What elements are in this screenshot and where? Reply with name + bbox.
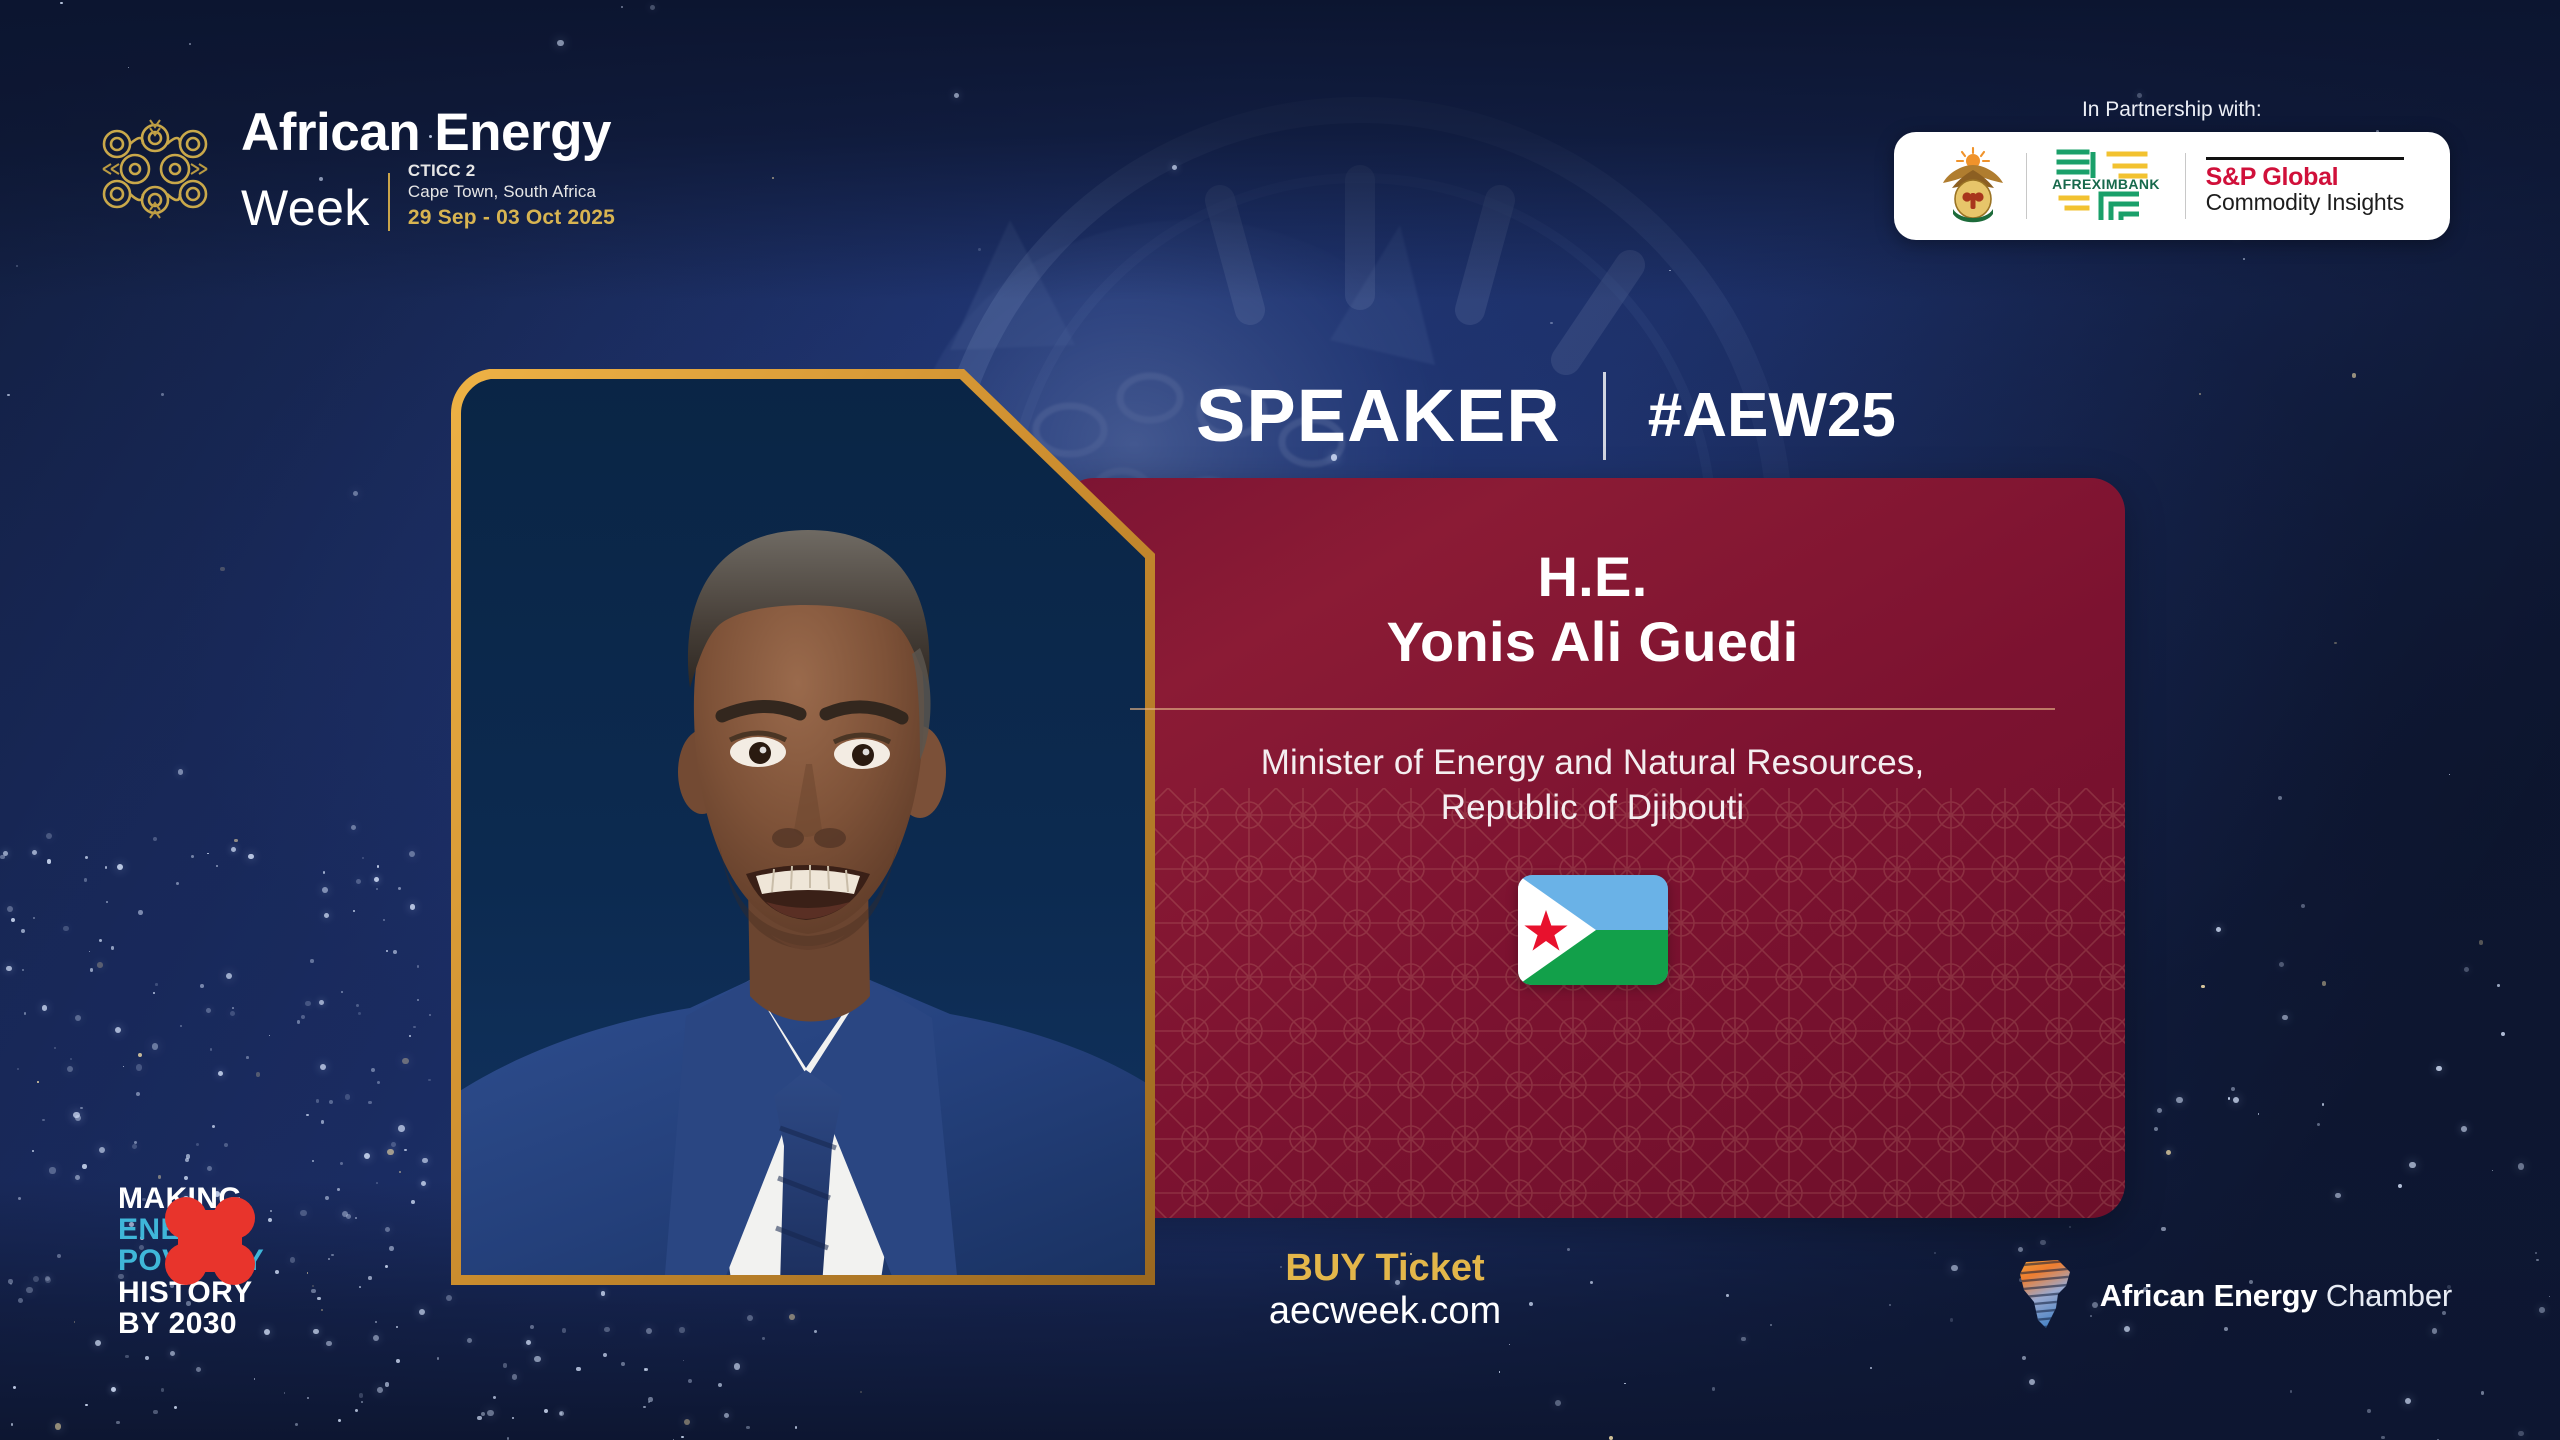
afreximbank-logo-icon: AFREXIMBANK — [2047, 146, 2165, 226]
logo-title-line1: African Energy — [241, 106, 615, 160]
buy-ticket-cta[interactable]: BUY Ticket aecweek.com — [1175, 1248, 1595, 1333]
speaker-header: SPEAKER #AEW25 — [1196, 372, 1896, 460]
partner-afreximbank: AFREXIMBANK — [2027, 144, 2185, 228]
event-dates: 29 Sep - 03 Oct 2025 — [408, 204, 615, 231]
speaker-honorific: H.E. — [1116, 548, 2069, 607]
event-hashtag: #AEW25 — [1648, 385, 1896, 447]
sp-global-brand: S&P Global — [2206, 164, 2404, 190]
speaker-name: Yonis Ali Guedi — [1116, 611, 2069, 674]
sp-global-logo-icon: S&P Global Commodity Insights — [2206, 157, 2404, 216]
slogan-line-4: HISTORY — [118, 1277, 264, 1308]
event-venue: CTICC 2 — [408, 160, 615, 181]
buy-ticket-label[interactable]: BUY Ticket — [1175, 1248, 1595, 1290]
slogan-line-5: BY 2030 — [118, 1308, 264, 1339]
partnership-block: In Partnership with: — [1894, 98, 2450, 240]
logo-title-line2: Week — [241, 183, 370, 233]
sa-coat-of-arms-icon — [1940, 147, 2006, 225]
speaker-role-line1: Minister of Energy and Natural Resources… — [1116, 740, 2069, 786]
event-website-url[interactable]: aecweek.com — [1175, 1290, 1595, 1334]
partner-south-africa — [1920, 144, 2026, 228]
speaker-portrait — [450, 368, 1162, 1286]
event-city: Cape Town, South Africa — [408, 181, 615, 202]
africa-map-icon — [2012, 1258, 2078, 1334]
chamber-name-bold: African Energy — [2100, 1278, 2318, 1313]
sp-global-sub: Commodity Insights — [2206, 190, 2404, 216]
logo-divider — [388, 173, 390, 231]
chamber-name-light: Chamber — [2326, 1278, 2452, 1313]
partnership-label: In Partnership with: — [2082, 98, 2262, 122]
sp-global-rule — [2206, 157, 2404, 160]
slogan-line-1: MAKING — [118, 1183, 264, 1214]
partner-logo-card: AFREXIMBANK S&P Global Commodity Insight… — [1894, 132, 2450, 240]
speaker-photo-frame — [450, 368, 1162, 1286]
speaker-name-rule — [1130, 708, 2055, 710]
svg-text:AFREXIMBANK: AFREXIMBANK — [2052, 176, 2160, 192]
partner-sp-global: S&P Global Commodity Insights — [2186, 144, 2424, 228]
djibouti-flag-icon — [1518, 875, 1668, 985]
speaker-info-card: H.E. Yonis Ali Guedi Minister of Energy … — [1060, 478, 2125, 1218]
campaign-slogan: MAKING ENERGY POVERTY HISTORY BY 2030 — [118, 1183, 264, 1339]
event-logo: African Energy Week CTICC 2 Cape Town, S… — [95, 106, 615, 233]
slogan-line-2: ENERGY — [118, 1214, 264, 1245]
african-energy-chamber-logo: African Energy Chamber — [2012, 1258, 2452, 1334]
african-pattern-ornament-icon — [95, 114, 215, 224]
photo-frame-outline — [450, 368, 1162, 1286]
speaker-eyebrow: SPEAKER — [1196, 379, 1561, 453]
speaker-role-line2: Republic of Djibouti — [1116, 785, 2069, 831]
speaker-header-divider — [1603, 372, 1606, 460]
slogan-line-3: POVERTY — [118, 1245, 264, 1276]
